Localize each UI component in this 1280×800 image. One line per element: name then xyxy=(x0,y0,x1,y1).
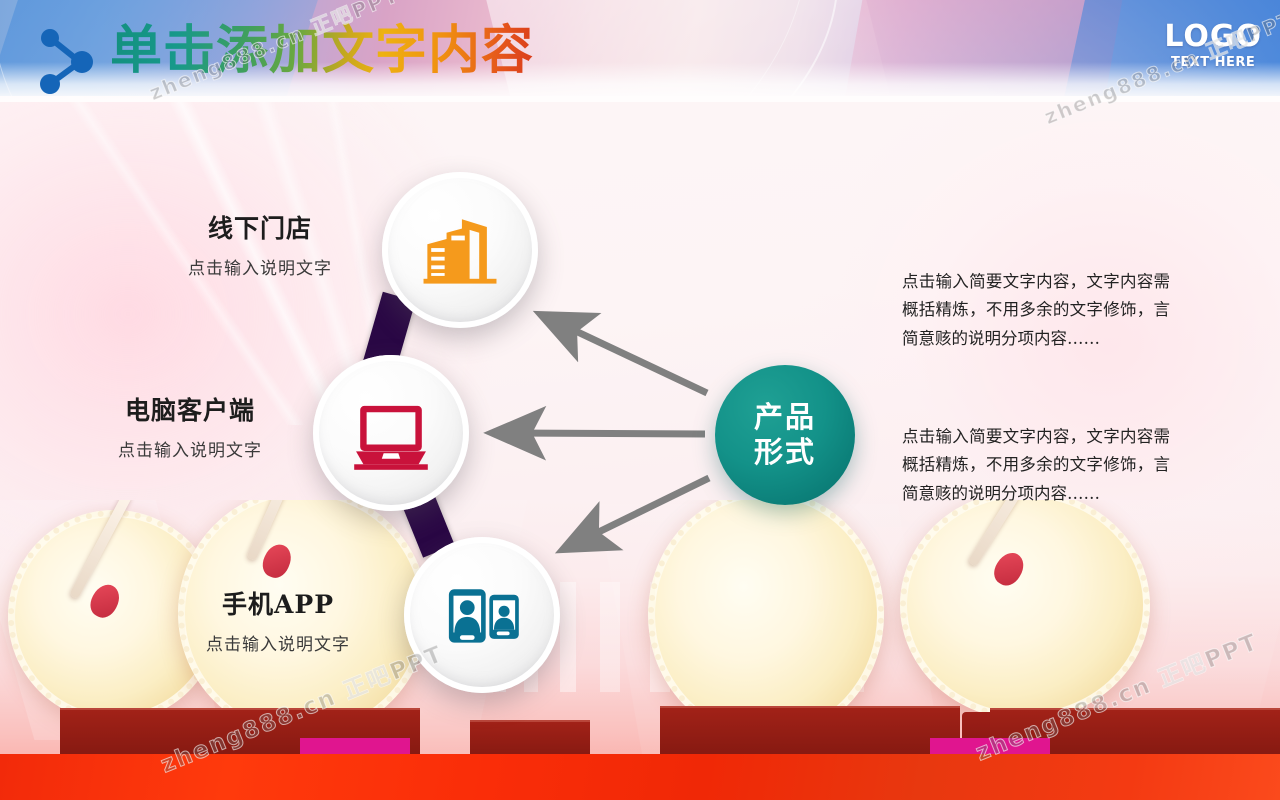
label-title-mobile-app: 手机APP xyxy=(148,590,408,620)
center-label-line2: 形式 xyxy=(754,435,816,470)
node-circle-mobile-app[interactable] xyxy=(404,537,560,693)
laptop-icon xyxy=(341,383,441,483)
center-circle-product-form[interactable]: 产品 形式 xyxy=(715,365,855,505)
node-circle-offline-store[interactable] xyxy=(382,172,538,328)
description-block-bottom: 点击输入简要文字内容，文字内容需概括精炼，不用多余的文字修饰，言简意赅的说明分项… xyxy=(902,423,1170,508)
label-title-pc-client: 电脑客户端 xyxy=(60,396,320,426)
label-group-mobile-app: 手机APP 点击输入说明文字 xyxy=(148,590,408,655)
description-block-top: 点击输入简要文字内容，文字内容需概括精炼，不用多余的文字修饰，言简意赅的说明分项… xyxy=(902,268,1170,353)
label-group-pc-client: 电脑客户端 点击输入说明文字 xyxy=(60,396,320,461)
building-icon xyxy=(410,200,510,300)
label-sub-offline-store: 点击输入说明文字 xyxy=(130,254,390,279)
label-title-offline-store: 线下门店 xyxy=(130,214,390,244)
label-sub-mobile-app: 点击输入说明文字 xyxy=(148,630,408,655)
label-sub-pc-client: 点击输入说明文字 xyxy=(60,436,320,461)
slide-canvas: 单击添加文字内容 LOGO TEXT HERE xyxy=(0,0,1280,800)
diagram-area: 产品 形式 线下门店 点击输入说明文字 电脑客户端 点击输入说明文字 手机APP… xyxy=(0,0,1280,800)
center-label-line1: 产品 xyxy=(754,400,816,435)
smartphones-users-icon xyxy=(432,565,532,665)
label-group-offline-store: 线下门店 点击输入说明文字 xyxy=(130,214,390,279)
node-circle-pc-client[interactable] xyxy=(313,355,469,511)
